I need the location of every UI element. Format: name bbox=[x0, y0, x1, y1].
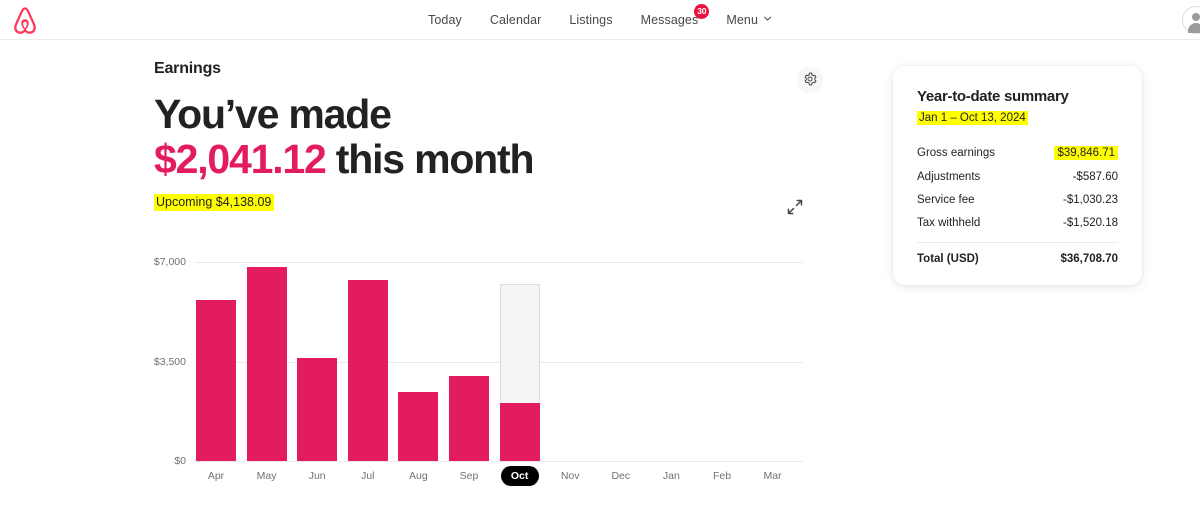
nav-item-messages[interactable]: Messages 30 bbox=[641, 13, 699, 27]
nav-label-calendar: Calendar bbox=[490, 13, 542, 27]
earnings-headline: You’ve made $2,041.12 this month bbox=[154, 92, 814, 182]
nav-label-listings: Listings bbox=[569, 13, 612, 27]
expand-icon bbox=[787, 199, 803, 218]
ytd-row-value: $39,846.71 bbox=[1054, 146, 1118, 160]
chart-bar-earned bbox=[196, 300, 236, 461]
ytd-row-value: -$1,520.18 bbox=[1063, 217, 1118, 229]
nav-item-today[interactable]: Today bbox=[428, 13, 462, 27]
upcoming-earnings: Upcoming $4,138.09 bbox=[154, 194, 274, 211]
earnings-chart: $7,000$3,500$0 AprMayJunJulAugSepOctNovD… bbox=[154, 262, 814, 492]
y-axis-tick-label: $3,500 bbox=[128, 356, 186, 368]
nav-label-menu: Menu bbox=[726, 13, 758, 27]
nav-label-today: Today bbox=[428, 13, 462, 27]
x-axis-label[interactable]: Jun bbox=[297, 466, 337, 486]
nav-item-listings[interactable]: Listings bbox=[569, 13, 612, 27]
nav-item-calendar[interactable]: Calendar bbox=[490, 13, 542, 27]
chart-plot-area bbox=[196, 262, 803, 461]
nav-label-messages: Messages bbox=[641, 13, 699, 27]
x-axis-label-current[interactable]: Oct bbox=[501, 466, 539, 486]
chart-bar-earned bbox=[449, 376, 489, 461]
x-axis-label[interactable]: Sep bbox=[449, 466, 489, 486]
chart-bar[interactable] bbox=[196, 262, 236, 461]
headline-line-1: You’ve made bbox=[154, 92, 814, 137]
chart-bar[interactable] bbox=[550, 262, 590, 461]
x-axis-label[interactable]: Dec bbox=[601, 466, 641, 486]
x-axis-label[interactable]: May bbox=[247, 466, 287, 486]
top-header: Today Calendar Listings Messages 30 Menu bbox=[0, 0, 1200, 40]
x-axis-label[interactable]: Apr bbox=[196, 466, 236, 486]
chart-x-axis: AprMayJunJulAugSepOctNovDecJanFebMar bbox=[196, 466, 803, 488]
x-axis-label[interactable]: Aug bbox=[398, 466, 438, 486]
headline-suffix: this month bbox=[326, 136, 534, 182]
chart-bar[interactable] bbox=[247, 262, 287, 461]
earnings-settings-button[interactable] bbox=[797, 67, 823, 93]
chart-bar[interactable] bbox=[398, 262, 438, 461]
ytd-rows: Gross earnings$39,846.71Adjustments-$587… bbox=[917, 140, 1118, 234]
y-axis-tick-label: $0 bbox=[128, 455, 186, 467]
earnings-amount: $2,041.12 bbox=[154, 136, 326, 182]
ytd-summary-card: Year-to-date summary Jan 1 – Oct 13, 202… bbox=[893, 66, 1142, 285]
ytd-row-label: Tax withheld bbox=[917, 217, 980, 229]
x-axis-label[interactable]: Jul bbox=[348, 466, 388, 486]
chevron-down-icon bbox=[763, 14, 772, 23]
ytd-total-value: $36,708.70 bbox=[1060, 253, 1118, 265]
chart-bar[interactable] bbox=[348, 262, 388, 461]
chart-bar[interactable] bbox=[753, 262, 793, 461]
main-nav: Today Calendar Listings Messages 30 Menu bbox=[0, 0, 1200, 39]
ytd-divider bbox=[917, 242, 1118, 243]
chart-bar-upcoming bbox=[500, 284, 540, 403]
chart-bar-earned bbox=[398, 392, 438, 461]
ytd-row: Service fee-$1,030.23 bbox=[917, 188, 1118, 211]
gridline bbox=[194, 461, 803, 462]
ytd-row-value: -$587.60 bbox=[1073, 171, 1118, 183]
ytd-row-label: Gross earnings bbox=[917, 147, 995, 159]
chart-bar[interactable] bbox=[297, 262, 337, 461]
avatar[interactable] bbox=[1182, 6, 1200, 34]
x-axis-label[interactable]: Nov bbox=[550, 466, 590, 486]
earnings-page: Today Calendar Listings Messages 30 Menu bbox=[0, 0, 1200, 507]
chart-bar[interactable] bbox=[500, 262, 540, 461]
avatar-head bbox=[1192, 13, 1200, 21]
gear-icon bbox=[803, 72, 817, 89]
expand-chart-button[interactable] bbox=[784, 197, 806, 219]
chart-bar[interactable] bbox=[449, 262, 489, 461]
chart-bar-earned bbox=[247, 267, 287, 461]
avatar-body bbox=[1188, 23, 1200, 33]
chart-bar-earned bbox=[500, 403, 540, 461]
ytd-total-label: Total (USD) bbox=[917, 253, 979, 265]
ytd-row: Tax withheld-$1,520.18 bbox=[917, 211, 1118, 234]
chart-bar[interactable] bbox=[601, 262, 641, 461]
ytd-date-range: Jan 1 – Oct 13, 2024 bbox=[917, 111, 1028, 125]
ytd-total-row: Total (USD) $36,708.70 bbox=[917, 247, 1118, 265]
x-axis-label[interactable]: Jan bbox=[651, 466, 691, 486]
earnings-panel: Earnings You’ve made $2,041.12 this mont… bbox=[154, 60, 814, 211]
ytd-row-label: Service fee bbox=[917, 194, 975, 206]
x-axis-label[interactable]: Mar bbox=[753, 466, 793, 486]
chart-bar-earned bbox=[297, 358, 337, 461]
ytd-row-label: Adjustments bbox=[917, 171, 980, 183]
ytd-row-value: -$1,030.23 bbox=[1063, 194, 1118, 206]
headline-line-2: $2,041.12 this month bbox=[154, 137, 814, 182]
nav-item-menu[interactable]: Menu bbox=[726, 13, 772, 27]
ytd-title: Year-to-date summary bbox=[917, 88, 1118, 105]
y-axis-tick-label: $7,000 bbox=[128, 256, 186, 268]
ytd-row: Gross earnings$39,846.71 bbox=[917, 140, 1118, 165]
page-title: Earnings bbox=[154, 60, 814, 78]
chart-bar[interactable] bbox=[651, 262, 691, 461]
chart-bar-earned bbox=[348, 280, 388, 461]
x-axis-label[interactable]: Feb bbox=[702, 466, 742, 486]
chart-bar[interactable] bbox=[702, 262, 742, 461]
ytd-row: Adjustments-$587.60 bbox=[917, 165, 1118, 188]
messages-unread-badge: 30 bbox=[694, 4, 709, 19]
